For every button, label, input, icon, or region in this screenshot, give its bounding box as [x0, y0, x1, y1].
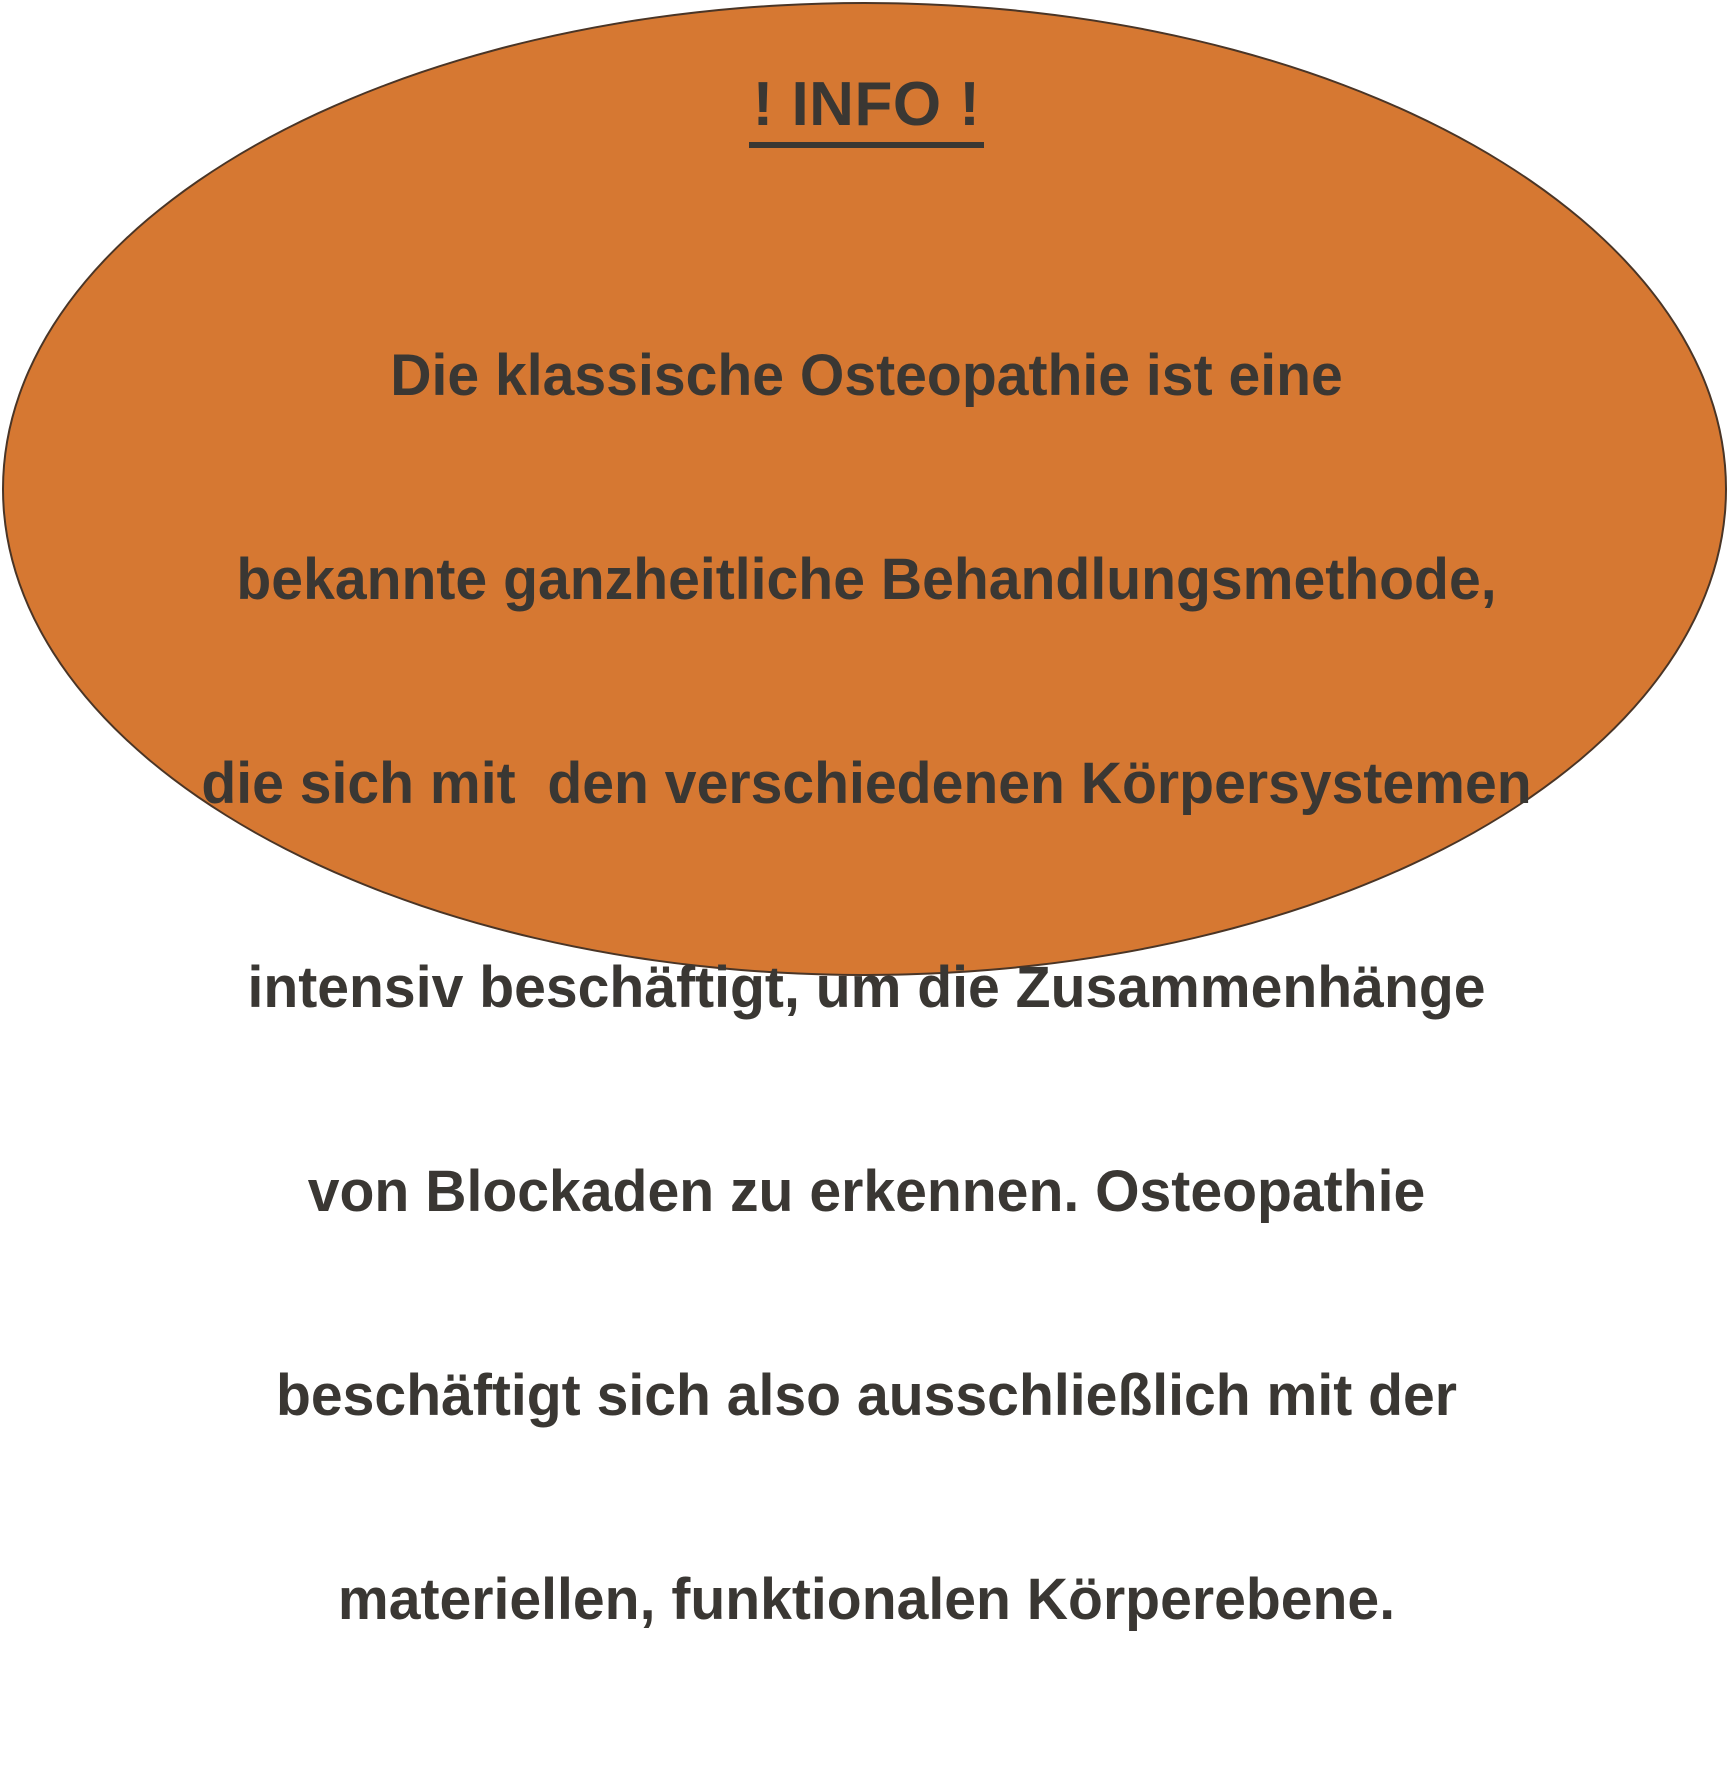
info-text-block: ! INFO ! Die klassische Osteopathie ist …	[0, 0, 1733, 980]
info-body-line: Die klassische Osteopathie ist eine	[13, 342, 1720, 410]
info-body-line: von Blockaden zu erkennen. Osteopathie	[13, 1158, 1720, 1226]
info-body-line: bekannte ganzheitliche Behandlungsmethod…	[13, 546, 1720, 614]
info-body-line: intensiv beschäftigt, um die Zusammenhän…	[13, 954, 1720, 1022]
info-body-text: Die klassische Osteopathie ist eine beka…	[0, 206, 1733, 1770]
info-title: ! INFO !	[749, 74, 985, 148]
info-graphic-canvas: ! INFO ! Die klassische Osteopathie ist …	[0, 0, 1733, 980]
info-body-line: materiellen, funktionalen Körperebene.	[13, 1566, 1720, 1634]
info-body-line: die sich mit den verschiedenen Körpersys…	[13, 750, 1720, 818]
info-body-line: beschäftigt sich also ausschließlich mit…	[13, 1362, 1720, 1430]
